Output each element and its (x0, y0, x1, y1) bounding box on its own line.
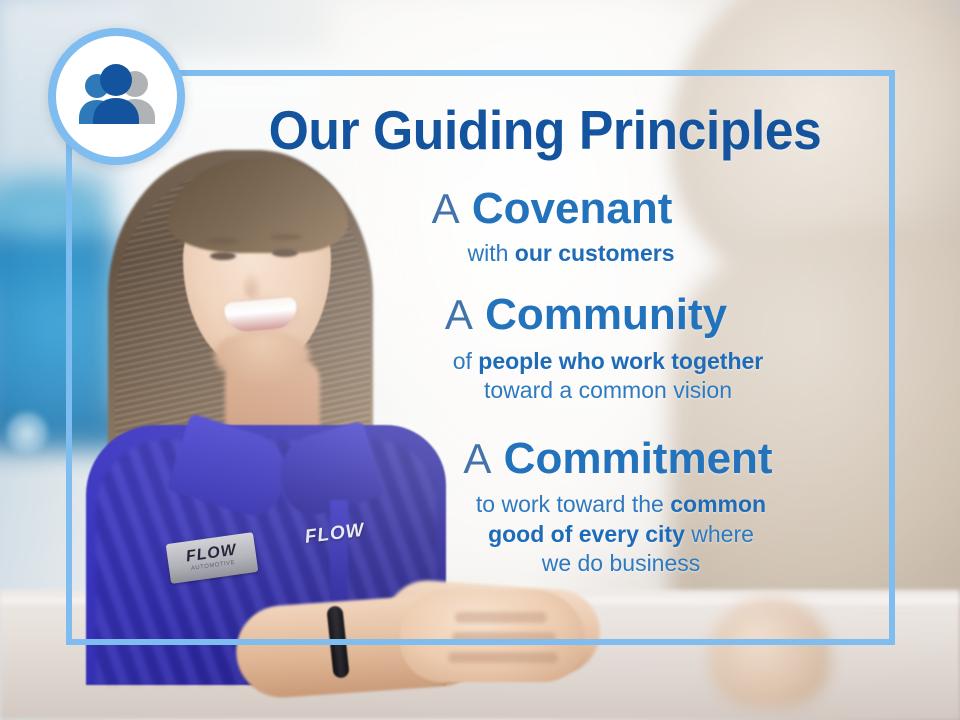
subtext-emphasis: our customers (515, 240, 675, 266)
photo-finger-1 (455, 612, 547, 623)
principles-list: A Covenant with our customers A Communit… (300, 186, 890, 585)
subtext-line: toward a common vision (326, 376, 890, 405)
photo-finger-3 (448, 652, 558, 663)
people-badge (48, 28, 185, 165)
photo-finger-2 (452, 632, 556, 643)
subtext-line: to work toward the common (352, 490, 890, 519)
subtext-line: of people who work together (326, 347, 890, 376)
subtext-plain: of (453, 348, 479, 374)
subtext-emphasis: good of every city (488, 521, 685, 547)
principle-article: A (432, 185, 460, 232)
principle-keyword: Commitment (504, 434, 773, 483)
principle-subtext: with our customers (300, 239, 890, 268)
principle-keyword: Covenant (472, 184, 672, 233)
photo-woman-brow-right (270, 234, 302, 240)
subtext-plain: with (467, 240, 514, 266)
subtext-line: we do business (352, 549, 890, 578)
principle-title: A Community (300, 292, 890, 339)
photo-customer-hand (710, 598, 830, 708)
principle-covenant: A Covenant with our customers (300, 186, 890, 268)
subtext-plain: where (685, 521, 754, 547)
subtext-plain: we do business (542, 550, 701, 576)
subtext-emphasis: common (670, 491, 766, 517)
subtext-line: good of every city where (352, 520, 890, 549)
page-title: Our Guiding Principles (230, 98, 860, 162)
principle-subtext: of people who work togethertoward a comm… (300, 347, 890, 406)
principle-title: A Commitment (300, 436, 890, 483)
photo-woman-eye-left (210, 252, 236, 260)
subtext-plain: toward a common vision (484, 377, 732, 403)
people-group-icon (72, 64, 162, 130)
principle-article: A (463, 435, 491, 482)
subtext-emphasis: people who work together (478, 348, 763, 374)
principle-subtext: to work toward the commongood of every c… (300, 490, 890, 578)
principle-keyword: Community (485, 290, 727, 339)
subtext-line: with our customers (300, 239, 842, 268)
guiding-principles-graphic: FLOW AUTOMOTIVE FLOW (0, 0, 960, 720)
principle-community: A Community of people who work togethert… (300, 292, 890, 406)
photo-dealer-logo (6, 412, 48, 454)
photo-woman-eye-right (272, 249, 298, 257)
subtext-plain: to work toward the (476, 491, 670, 517)
principle-commitment: A Commitment to work toward the commongo… (300, 436, 890, 579)
photo-woman-brow-left (207, 238, 239, 244)
principle-title: A Covenant (300, 186, 890, 233)
principle-article: A (445, 291, 473, 338)
